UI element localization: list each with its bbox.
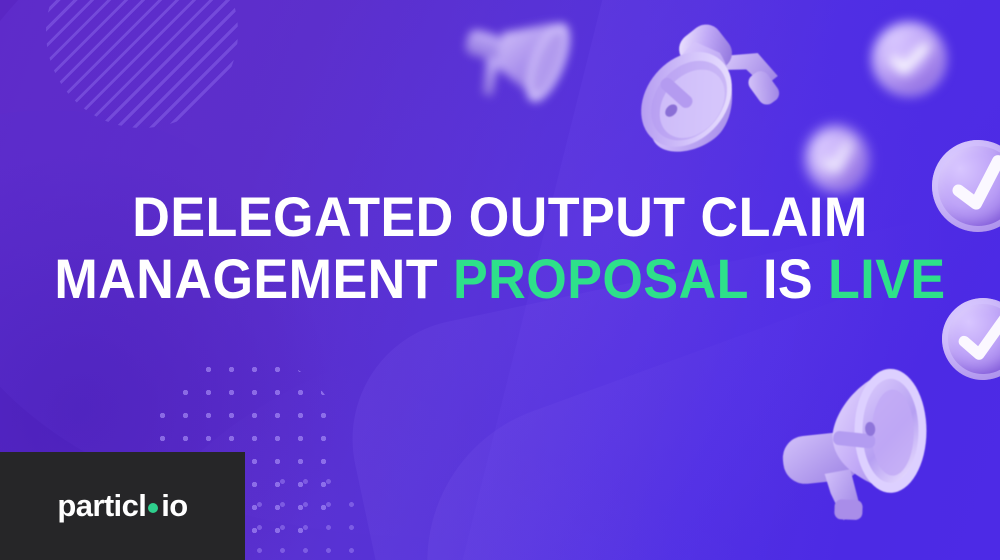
promo-banner: Delegated Output Claim Management Propos…	[0, 0, 1000, 560]
brand-logo: particl io	[57, 488, 187, 524]
headline-line-2: Management Proposal Is Live	[35, 248, 965, 310]
brand-name-suffix: io	[161, 488, 187, 524]
headline-line-2-text-b: Is	[748, 247, 828, 310]
brand-name-prefix: particl	[57, 488, 146, 524]
headline-line-1: Delegated Output Claim	[35, 186, 965, 248]
headline-line-2-text-a: Management	[54, 247, 453, 310]
check-badge-icon	[872, 22, 946, 96]
headline-line-1-text: Delegated Output Claim	[132, 185, 867, 248]
headline-highlight-proposal: Proposal	[453, 247, 748, 310]
brand-logo-box: particl io	[0, 452, 245, 560]
headline: Delegated Output Claim Management Propos…	[35, 186, 965, 309]
dot-separator-icon	[148, 503, 158, 513]
check-icon	[872, 22, 946, 96]
headline-highlight-live: Live	[828, 247, 946, 310]
